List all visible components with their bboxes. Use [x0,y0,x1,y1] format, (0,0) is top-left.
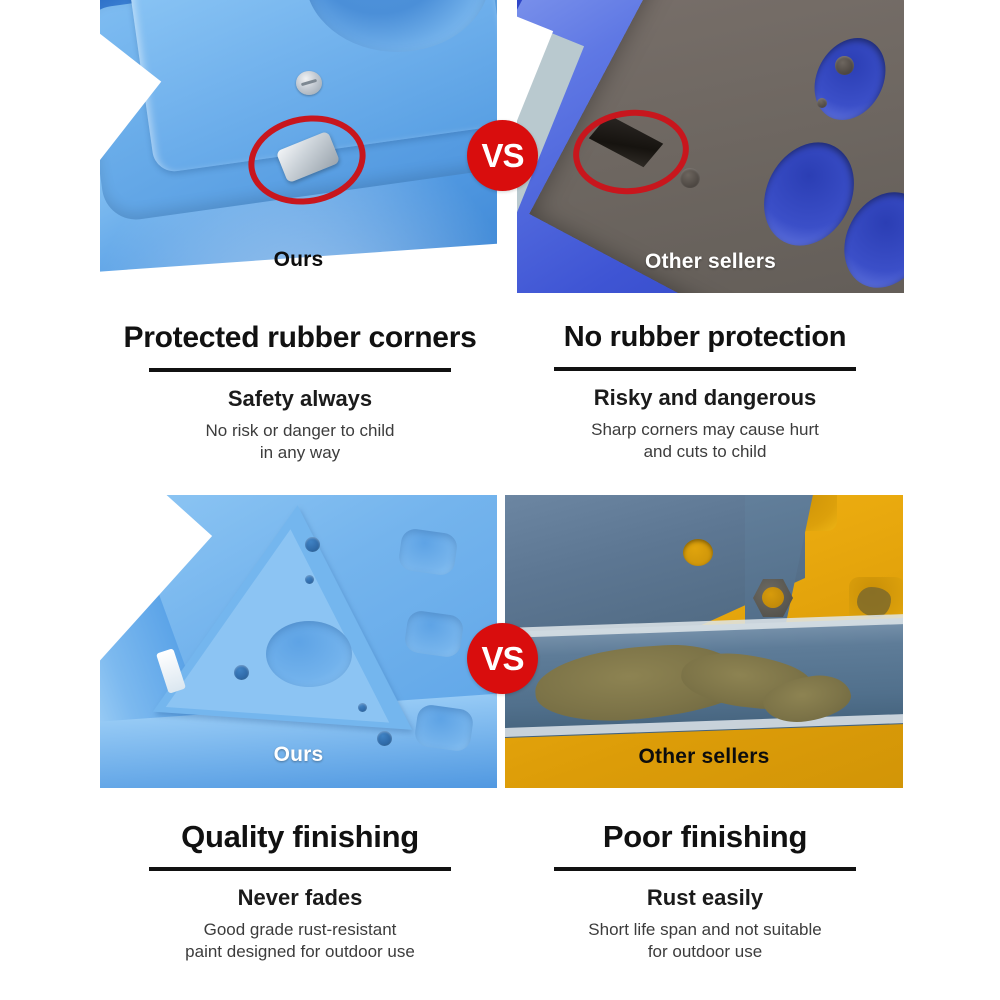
bolt-icon [817,98,827,108]
headline-ours-corner: Protected rubber corners [100,322,500,354]
body-ours-finishing: Good grade rust-resistant paint designed… [100,919,500,964]
photo-caption-ours-finishing: Ours [100,743,497,767]
rivet-icon [305,575,314,584]
headline-theirs-corner: No rubber protection [505,322,905,353]
vs-badge-label: VS [481,139,523,172]
body-line-1: Good grade rust-resistant [100,919,500,941]
infographic-canvas: Ours Other sellers VS Protected rubber c… [0,0,1000,1000]
text-block-ours-finishing: Quality finishing Never fades Good grade… [100,820,500,964]
subtitle-ours-corner: Safety always [100,386,500,411]
bolt-icon [835,56,854,75]
photo-ours-corner: Ours [100,0,497,285]
triangular-bracket-inner [166,521,402,722]
table-slot [403,609,464,658]
vs-badge-bottom: VS [467,623,538,694]
photo-caption-ours-corner: Ours [100,248,497,272]
vs-badge-top: VS [467,120,538,191]
headline-ours-finishing: Quality finishing [100,820,500,853]
body-line-2: in any way [100,442,500,464]
table-slot [397,527,458,576]
photo-caption-theirs-finishing: Other sellers [505,745,903,769]
divider-rule [149,867,451,871]
screw-icon [296,71,322,95]
rivet-icon [305,537,320,552]
table-stain [857,587,891,617]
rivet-icon [234,665,249,680]
vs-badge-label: VS [481,642,523,675]
subtitle-theirs-finishing: Rust easily [505,885,905,910]
body-line-1: Short life span and not suitable [505,919,905,941]
divider-rule [554,367,856,371]
body-line-2: for outdoor use [505,941,905,963]
photo-caption-theirs-corner: Other sellers [517,250,904,274]
body-line-1: No risk or danger to child [100,420,500,442]
text-block-ours-corner: Protected rubber corners Safety always N… [100,322,500,465]
body-theirs-finishing: Short life span and not suitable for out… [505,919,905,964]
photo-theirs-corner: Other sellers [517,0,904,293]
photo-ours-finishing: Ours [100,495,497,788]
body-line-2: paint designed for outdoor use [100,941,500,963]
body-theirs-corner: Sharp corners may cause hurt and cuts to… [505,419,905,464]
subtitle-ours-finishing: Never fades [100,885,500,910]
body-line-1: Sharp corners may cause hurt [505,419,905,441]
bracket-hole [683,539,713,566]
divider-rule [149,368,451,372]
rivet-icon [358,703,367,712]
divider-rule [554,867,856,871]
text-block-theirs-finishing: Poor finishing Rust easily Short life sp… [505,820,905,964]
bracket-circular-recess [266,621,352,687]
headline-theirs-finishing: Poor finishing [505,820,905,853]
bolt-icon [680,168,700,188]
photo-theirs-finishing: Other sellers [505,495,903,788]
body-line-2: and cuts to child [505,441,905,463]
body-ours-corner: No risk or danger to child in any way [100,420,500,465]
subtitle-theirs-corner: Risky and dangerous [505,385,905,410]
text-block-theirs-corner: No rubber protection Risky and dangerous… [505,322,905,463]
